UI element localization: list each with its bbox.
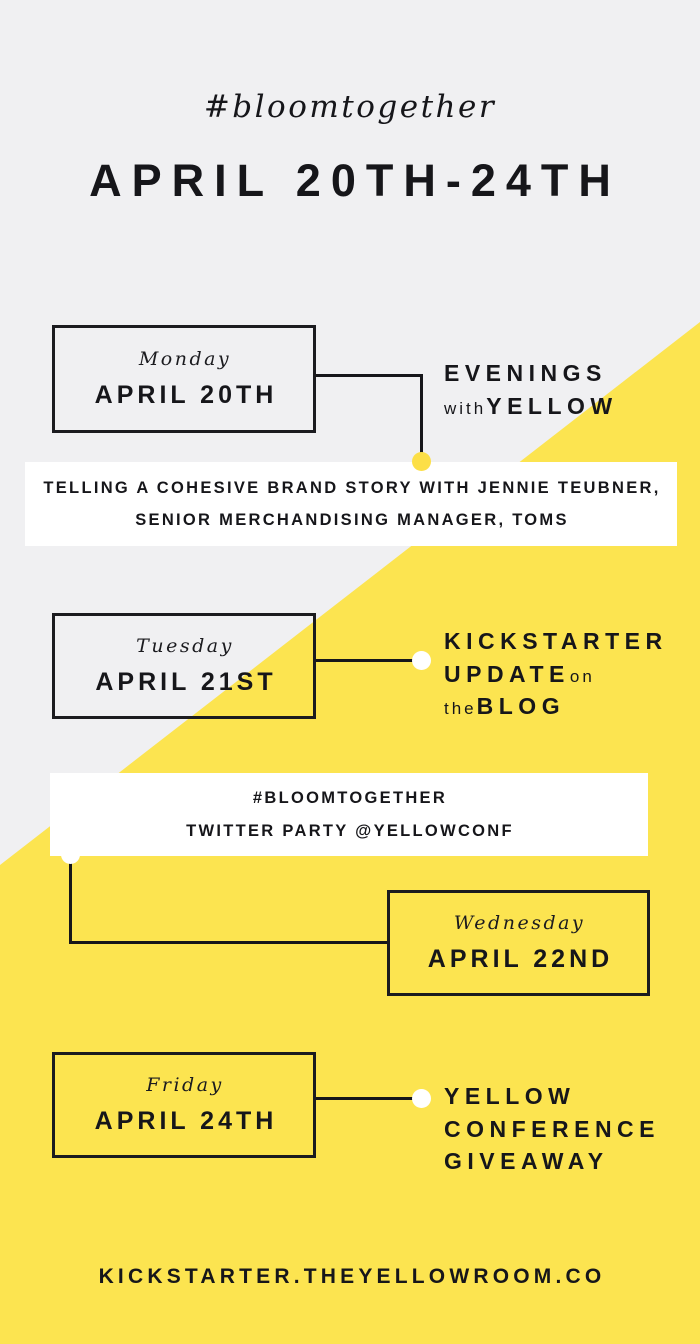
date-label-wednesday: APRIL 22ND	[424, 947, 613, 972]
date-label-friday: APRIL 24TH	[91, 1109, 278, 1134]
weekday-label-friday: Friday	[144, 1076, 224, 1095]
date-range-title: APRIL 20TH-24TH	[0, 158, 700, 203]
event-label-tuesday-line3-big: BLOG	[477, 693, 565, 719]
connector-line-monday-vertical	[420, 374, 423, 460]
connector-dot-tuesday	[412, 651, 431, 670]
banner-monday-session: TELLING A COHESIVE BRAND STORY WITH JENN…	[25, 462, 677, 546]
hashtag-title: #bloomtogether	[0, 92, 700, 123]
connector-line-monday-horizontal	[316, 374, 423, 377]
weekday-label-wednesday: Wednesday	[452, 914, 585, 933]
event-label-monday: EVENINGS withYELLOW	[444, 357, 618, 422]
event-label-monday-line2-small: with	[444, 399, 486, 418]
event-label-monday-line2: withYELLOW	[444, 390, 618, 423]
connector-dot-friday	[412, 1089, 431, 1108]
event-label-friday: YELLOW CONFERENCE GIVEAWAY	[444, 1080, 660, 1178]
day-box-monday: Monday APRIL 20TH	[52, 325, 316, 433]
event-label-tuesday-line2-big: UPDATE	[444, 661, 570, 687]
event-label-tuesday-line2: UPDATEon	[444, 658, 668, 691]
banner-twitter-party: #BLOOMTOGETHER TWITTER PARTY @YELLOWCONF	[50, 773, 648, 856]
event-label-friday-line3: GIVEAWAY	[444, 1145, 660, 1178]
banner-twitter-line2: TWITTER PARTY @YELLOWCONF	[184, 823, 514, 840]
connector-dot-wednesday	[61, 845, 80, 864]
day-box-wednesday: Wednesday APRIL 22ND	[387, 890, 650, 996]
infographic-poster: #bloomtogether APRIL 20TH-24TH Monday AP…	[0, 0, 700, 1344]
banner-monday-line1: TELLING A COHESIVE BRAND STORY WITH JENN…	[41, 480, 660, 497]
banner-twitter-line1: #BLOOMTOGETHER	[251, 790, 447, 807]
event-label-tuesday-line3: theBLOG	[444, 690, 668, 723]
day-box-tuesday: Tuesday APRIL 21ST	[52, 613, 316, 719]
day-box-friday: Friday APRIL 24TH	[52, 1052, 316, 1158]
event-label-friday-line2: CONFERENCE	[444, 1113, 660, 1146]
event-label-friday-line1: YELLOW	[444, 1080, 660, 1113]
connector-line-wednesday-vertical	[69, 853, 72, 944]
weekday-label-monday: Monday	[137, 350, 231, 369]
banner-monday-line2: SENIOR MERCHANDISING MANAGER, TOMS	[133, 512, 569, 529]
date-label-tuesday: APRIL 21ST	[91, 670, 276, 695]
connector-line-tuesday-horizontal	[316, 659, 416, 662]
connector-line-friday-horizontal	[316, 1097, 416, 1100]
footer-url[interactable]: KICKSTARTER.THEYELLOWROOM.CO	[0, 1266, 700, 1287]
date-label-monday: APRIL 20TH	[91, 383, 278, 408]
event-label-tuesday-line2-small: on	[570, 667, 595, 686]
event-label-tuesday: KICKSTARTER UPDATEon theBLOG	[444, 625, 668, 723]
weekday-label-tuesday: Tuesday	[134, 637, 234, 656]
event-label-monday-line1: EVENINGS	[444, 357, 618, 390]
connector-dot-monday	[412, 452, 431, 471]
event-label-tuesday-line1: KICKSTARTER	[444, 625, 668, 658]
event-label-monday-line2-big: YELLOW	[486, 393, 617, 419]
connector-line-wednesday-horizontal	[69, 941, 389, 944]
poster-header: #bloomtogether APRIL 20TH-24TH	[0, 0, 700, 203]
event-label-tuesday-line3-small: the	[444, 699, 477, 718]
